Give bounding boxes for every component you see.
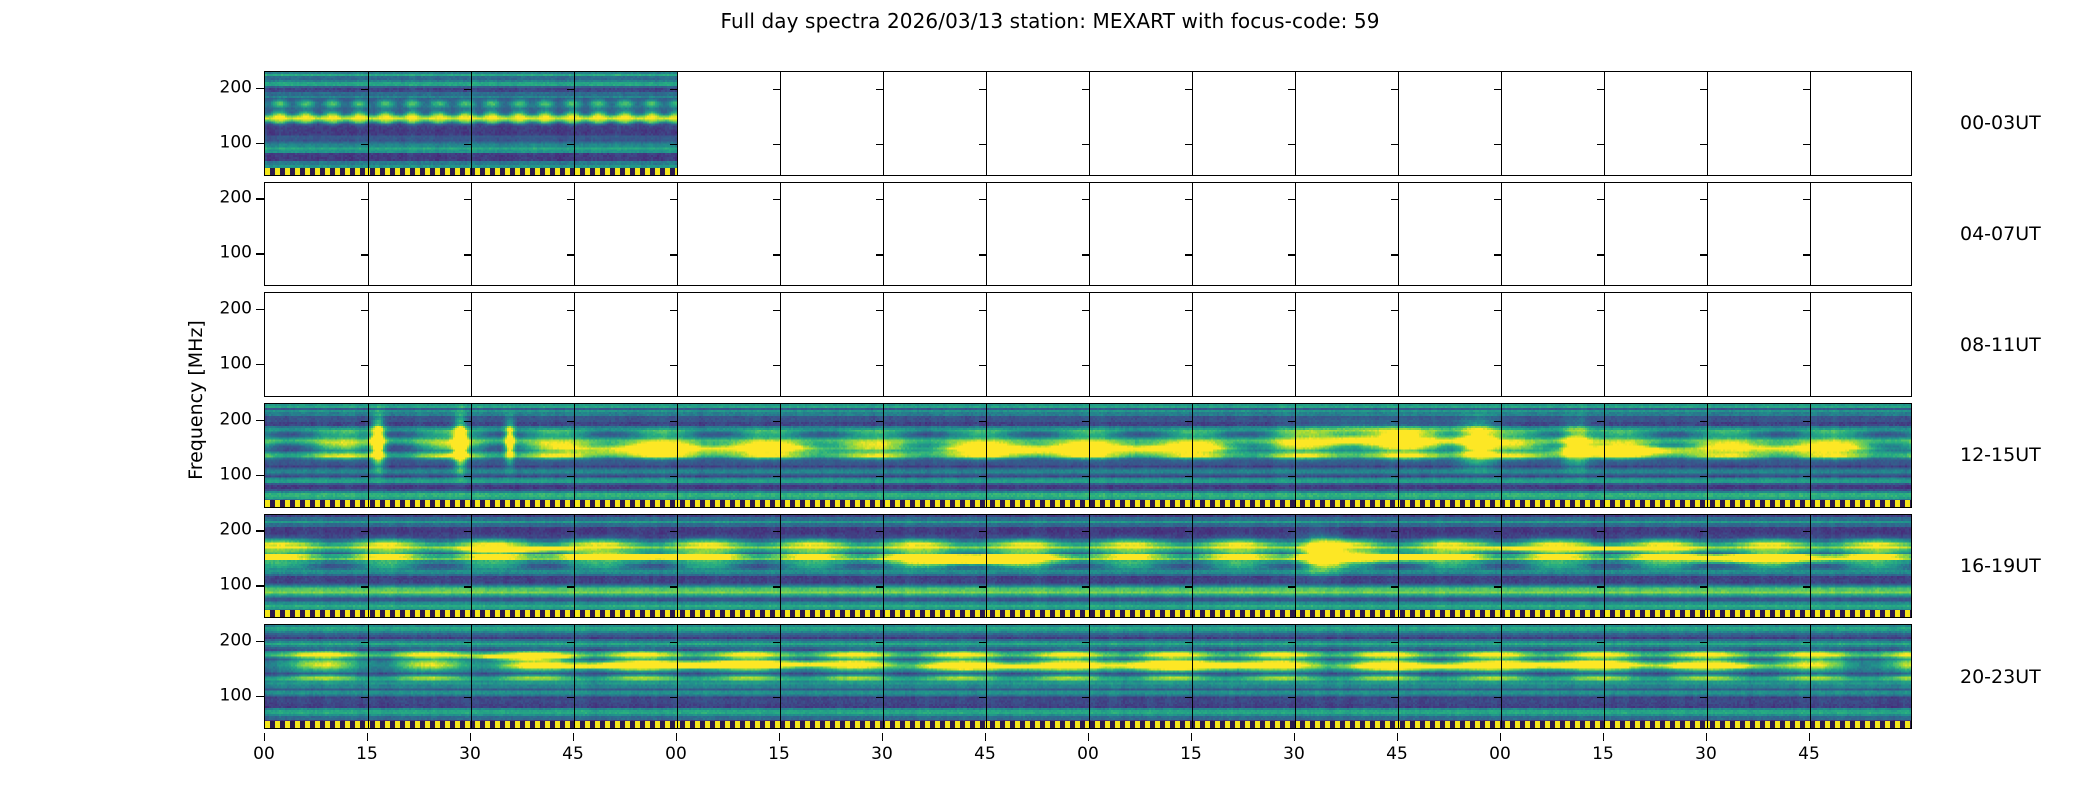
y-tick-mark xyxy=(876,89,883,90)
y-tick-mark xyxy=(1288,697,1295,698)
y-tick-mark xyxy=(670,365,677,366)
panel-divider xyxy=(883,183,884,286)
panel-divider xyxy=(471,625,472,728)
x-axis-tick-label: 45 xyxy=(974,744,996,764)
panel-divider xyxy=(780,515,781,618)
y-tick-mark xyxy=(1494,586,1501,587)
panel-divider xyxy=(1295,183,1296,286)
y-tick-mark xyxy=(876,365,883,366)
y-tick-mark xyxy=(464,642,471,643)
panel-divider xyxy=(1501,404,1502,507)
y-tick-mark xyxy=(1391,476,1398,477)
panel-divider xyxy=(1192,293,1193,396)
y-tick-mark xyxy=(1597,199,1604,200)
y-axis-tick xyxy=(256,253,264,254)
panel-divider xyxy=(986,72,987,175)
y-tick-mark xyxy=(1700,89,1707,90)
x-axis-tick-label: 00 xyxy=(1077,744,1099,764)
y-tick-mark xyxy=(1082,586,1089,587)
y-tick-mark xyxy=(1803,365,1810,366)
y-axis-tick xyxy=(256,696,264,697)
panel-divider xyxy=(883,293,884,396)
x-axis-tick xyxy=(985,733,986,741)
panel-divider xyxy=(986,293,987,396)
y-tick-mark xyxy=(464,531,471,532)
y-tick-mark xyxy=(1391,199,1398,200)
panel-divider xyxy=(471,404,472,507)
y-tick-mark xyxy=(1494,642,1501,643)
y-tick-mark xyxy=(1185,365,1192,366)
y-tick-mark xyxy=(567,697,574,698)
y-tick-mark xyxy=(979,365,986,366)
panel-divider xyxy=(1192,625,1193,728)
y-tick-mark xyxy=(1494,310,1501,311)
y-tick-mark xyxy=(1494,89,1501,90)
row-label-08-11ut: 08-11UT xyxy=(1960,334,2041,356)
y-tick-mark xyxy=(1185,310,1192,311)
y-tick-mark xyxy=(773,531,780,532)
y-tick-mark xyxy=(670,697,677,698)
y-axis-tick xyxy=(256,198,264,199)
y-tick-mark xyxy=(773,586,780,587)
panel-divider xyxy=(574,625,575,728)
y-tick-mark xyxy=(1494,531,1501,532)
panel-divider xyxy=(1810,515,1811,618)
y-tick-mark xyxy=(1700,586,1707,587)
y-axis-tick-label: 200 xyxy=(220,298,252,318)
panel-divider xyxy=(368,72,369,175)
spectrogram-row-20-23ut: 200100 xyxy=(264,624,1912,729)
y-tick-mark xyxy=(1082,531,1089,532)
panel-divider xyxy=(1604,183,1605,286)
panel-divider xyxy=(677,625,678,728)
y-tick-mark xyxy=(1082,199,1089,200)
panel-divider xyxy=(471,293,472,396)
y-tick-mark xyxy=(773,199,780,200)
y-tick-mark xyxy=(1494,144,1501,145)
y-tick-mark xyxy=(1288,89,1295,90)
panel-divider xyxy=(1295,404,1296,507)
y-tick-mark xyxy=(1803,421,1810,422)
y-tick-mark xyxy=(773,642,780,643)
y-tick-mark xyxy=(464,586,471,587)
x-axis-tick xyxy=(1088,733,1089,741)
y-axis-tick xyxy=(256,585,264,586)
y-tick-mark xyxy=(1391,254,1398,255)
spectrogram-row-16-19ut: 200100 xyxy=(264,514,1912,619)
y-tick-mark xyxy=(1185,642,1192,643)
panel-divider xyxy=(1810,183,1811,286)
panel-divider xyxy=(986,183,987,286)
y-tick-mark xyxy=(1597,254,1604,255)
y-axis-tick xyxy=(256,641,264,642)
panel-divider xyxy=(780,404,781,507)
y-tick-mark xyxy=(773,476,780,477)
panel-divider xyxy=(1707,293,1708,396)
y-tick-mark xyxy=(361,144,368,145)
x-axis-tick-label: 30 xyxy=(1695,744,1717,764)
y-tick-mark xyxy=(979,421,986,422)
plot-area xyxy=(264,514,1912,619)
y-tick-mark xyxy=(1185,144,1192,145)
plot-area xyxy=(264,71,1912,176)
y-tick-mark xyxy=(670,642,677,643)
y-tick-mark xyxy=(876,254,883,255)
y-tick-mark xyxy=(1288,421,1295,422)
x-axis-tick xyxy=(779,733,780,741)
y-tick-mark xyxy=(876,642,883,643)
y-tick-mark xyxy=(567,89,574,90)
y-tick-mark xyxy=(979,642,986,643)
panel-divider xyxy=(574,183,575,286)
y-tick-mark xyxy=(1597,144,1604,145)
y-axis-tick-label: 100 xyxy=(220,132,252,152)
y-tick-mark xyxy=(979,476,986,477)
y-tick-mark xyxy=(1185,476,1192,477)
y-tick-mark xyxy=(670,310,677,311)
y-axis-tick xyxy=(256,143,264,144)
y-tick-mark xyxy=(1803,531,1810,532)
y-tick-mark xyxy=(1803,642,1810,643)
page-title: Full day spectra 2026/03/13 station: MEX… xyxy=(0,9,2100,33)
spectrogram-row-00-03ut: 200100 xyxy=(264,71,1912,176)
panel-divider xyxy=(1810,625,1811,728)
x-axis-tick-label: 00 xyxy=(253,744,275,764)
y-tick-mark xyxy=(464,310,471,311)
y-tick-mark xyxy=(567,310,574,311)
y-tick-mark xyxy=(1803,697,1810,698)
y-tick-mark xyxy=(1391,642,1398,643)
panel-divider xyxy=(1604,515,1605,618)
x-axis-tick xyxy=(676,733,677,741)
y-axis-tick xyxy=(256,420,264,421)
panel-divider xyxy=(1192,72,1193,175)
y-tick-mark xyxy=(979,254,986,255)
y-tick-mark xyxy=(1391,89,1398,90)
y-tick-mark xyxy=(1803,310,1810,311)
y-tick-mark xyxy=(1185,531,1192,532)
y-tick-mark xyxy=(670,421,677,422)
panel-divider xyxy=(1810,404,1811,507)
x-axis-tick-label: 30 xyxy=(1283,744,1305,764)
panel-divider xyxy=(1398,515,1399,618)
y-tick-mark xyxy=(773,144,780,145)
y-tick-mark xyxy=(361,199,368,200)
y-tick-mark xyxy=(1082,365,1089,366)
y-tick-mark xyxy=(1700,144,1707,145)
y-tick-mark xyxy=(670,586,677,587)
y-tick-mark xyxy=(361,89,368,90)
x-axis-tick-label: 00 xyxy=(1489,744,1511,764)
y-axis-tick-label: 200 xyxy=(220,409,252,429)
y-tick-mark xyxy=(1597,586,1604,587)
panel-divider xyxy=(780,183,781,286)
y-tick-mark xyxy=(1803,144,1810,145)
x-axis-tick xyxy=(1294,733,1295,741)
spectrogram-row-04-07ut: 200100 xyxy=(264,182,1912,287)
panel-divider xyxy=(1810,72,1811,175)
spectrogram-row-08-11ut: 200100 xyxy=(264,292,1912,397)
y-tick-mark xyxy=(876,144,883,145)
y-tick-mark xyxy=(464,476,471,477)
y-axis-tick-label: 100 xyxy=(220,464,252,484)
y-tick-mark xyxy=(1185,254,1192,255)
x-axis-tick-label: 15 xyxy=(356,744,378,764)
y-tick-mark xyxy=(361,531,368,532)
y-tick-mark xyxy=(1185,421,1192,422)
panel-divider xyxy=(1604,72,1605,175)
y-tick-mark xyxy=(361,254,368,255)
panel-divider xyxy=(471,72,472,175)
y-tick-mark xyxy=(1494,421,1501,422)
panel-divider xyxy=(677,293,678,396)
y-axis-tick xyxy=(256,364,264,365)
y-tick-mark xyxy=(1185,199,1192,200)
panel-divider xyxy=(1707,183,1708,286)
panel-divider xyxy=(368,515,369,618)
y-axis-tick-label: 100 xyxy=(220,575,252,595)
y-tick-mark xyxy=(979,144,986,145)
panel-divider xyxy=(1604,404,1605,507)
y-tick-mark xyxy=(1803,254,1810,255)
panel-divider xyxy=(780,72,781,175)
plot-area xyxy=(264,182,1912,287)
y-tick-mark xyxy=(876,697,883,698)
panel-divider xyxy=(574,515,575,618)
y-axis-tick-label: 200 xyxy=(220,630,252,650)
x-axis-tick xyxy=(470,733,471,741)
plot-area xyxy=(264,292,1912,397)
y-axis-tick xyxy=(256,530,264,531)
y-tick-mark xyxy=(1803,199,1810,200)
panel-divider xyxy=(986,515,987,618)
y-tick-mark xyxy=(876,310,883,311)
panel-divider xyxy=(883,404,884,507)
x-axis-tick xyxy=(1397,733,1398,741)
y-tick-mark xyxy=(1494,199,1501,200)
panel-divider xyxy=(677,515,678,618)
y-tick-mark xyxy=(567,476,574,477)
y-tick-mark xyxy=(1288,199,1295,200)
panel-divider xyxy=(1089,625,1090,728)
y-tick-mark xyxy=(361,310,368,311)
panel-divider xyxy=(1707,515,1708,618)
panel-divider xyxy=(986,625,987,728)
y-tick-mark xyxy=(361,365,368,366)
panel-divider xyxy=(986,404,987,507)
y-tick-mark xyxy=(1391,586,1398,587)
y-tick-mark xyxy=(670,144,677,145)
panel-divider xyxy=(368,293,369,396)
y-tick-mark xyxy=(1494,697,1501,698)
x-axis-tick xyxy=(1500,733,1501,741)
y-tick-mark xyxy=(1494,365,1501,366)
y-tick-mark xyxy=(1082,144,1089,145)
panel-divider xyxy=(1089,515,1090,618)
panel-divider xyxy=(574,404,575,507)
y-tick-mark xyxy=(773,310,780,311)
panel-divider xyxy=(1501,293,1502,396)
panel-divider xyxy=(1604,625,1605,728)
y-tick-mark xyxy=(670,476,677,477)
panel-divider xyxy=(1707,72,1708,175)
x-axis-tick-label: 15 xyxy=(1592,744,1614,764)
y-tick-mark xyxy=(1803,476,1810,477)
x-axis-tick-label: 45 xyxy=(562,744,584,764)
y-axis-tick xyxy=(256,475,264,476)
x-axis-tick-label: 15 xyxy=(1180,744,1202,764)
y-tick-mark xyxy=(1082,642,1089,643)
panel-divider xyxy=(883,72,884,175)
y-tick-mark xyxy=(1494,476,1501,477)
y-tick-mark xyxy=(1391,144,1398,145)
row-label-20-23ut: 20-23UT xyxy=(1960,666,2041,688)
y-tick-mark xyxy=(1597,476,1604,477)
plot-area xyxy=(264,403,1912,508)
y-axis-tick-label: 200 xyxy=(220,77,252,97)
y-tick-mark xyxy=(1082,697,1089,698)
panel-divider xyxy=(1295,625,1296,728)
panel-divider xyxy=(780,293,781,396)
y-tick-mark xyxy=(567,365,574,366)
panel-divider xyxy=(1192,183,1193,286)
row-label-00-03ut: 00-03UT xyxy=(1960,112,2041,134)
y-tick-mark xyxy=(1597,697,1604,698)
y-tick-mark xyxy=(773,89,780,90)
panel-divider xyxy=(1501,183,1502,286)
panel-divider xyxy=(1089,72,1090,175)
x-axis-tick-label: 30 xyxy=(871,744,893,764)
y-tick-mark xyxy=(1288,586,1295,587)
x-axis: 00153045001530450015304500153045 xyxy=(264,733,1912,773)
y-tick-mark xyxy=(1597,365,1604,366)
y-tick-mark xyxy=(979,310,986,311)
x-axis-tick xyxy=(264,733,265,741)
y-tick-mark xyxy=(1082,254,1089,255)
y-tick-mark xyxy=(1700,199,1707,200)
y-tick-mark xyxy=(567,144,574,145)
y-tick-mark xyxy=(1288,365,1295,366)
y-tick-mark xyxy=(464,697,471,698)
row-label-04-07ut: 04-07UT xyxy=(1960,223,2041,245)
x-axis-tick-label: 00 xyxy=(665,744,687,764)
y-tick-mark xyxy=(1700,531,1707,532)
y-tick-mark xyxy=(670,254,677,255)
y-tick-mark xyxy=(1288,642,1295,643)
x-axis-tick xyxy=(1809,733,1810,741)
row-label-12-15ut: 12-15UT xyxy=(1960,444,2041,466)
y-tick-mark xyxy=(464,365,471,366)
panel-divider xyxy=(471,515,472,618)
y-tick-mark xyxy=(1494,254,1501,255)
spectrogram-row-12-15ut: 200100 xyxy=(264,403,1912,508)
panel-divider xyxy=(1398,72,1399,175)
panel-divider xyxy=(780,625,781,728)
panel-divider xyxy=(677,404,678,507)
panel-divider xyxy=(368,404,369,507)
y-tick-mark xyxy=(1700,642,1707,643)
y-tick-mark xyxy=(1597,531,1604,532)
panel-divider xyxy=(1398,404,1399,507)
y-tick-mark xyxy=(1597,89,1604,90)
y-tick-mark xyxy=(361,642,368,643)
y-tick-mark xyxy=(1597,421,1604,422)
y-tick-mark xyxy=(464,254,471,255)
row-label-16-19ut: 16-19UT xyxy=(1960,555,2041,577)
y-tick-mark xyxy=(876,199,883,200)
y-tick-mark xyxy=(464,144,471,145)
y-tick-mark xyxy=(773,421,780,422)
panel-divider xyxy=(1501,515,1502,618)
panel-divider xyxy=(1295,293,1296,396)
y-tick-mark xyxy=(361,421,368,422)
panel-divider xyxy=(1398,625,1399,728)
y-tick-mark xyxy=(1700,310,1707,311)
y-tick-mark xyxy=(1700,697,1707,698)
y-tick-mark xyxy=(1391,310,1398,311)
y-tick-mark xyxy=(1700,421,1707,422)
y-tick-mark xyxy=(567,586,574,587)
y-tick-mark xyxy=(1391,421,1398,422)
y-tick-mark xyxy=(464,199,471,200)
y-tick-mark xyxy=(1391,697,1398,698)
y-tick-mark xyxy=(670,531,677,532)
y-tick-mark xyxy=(979,697,986,698)
y-tick-mark xyxy=(1082,89,1089,90)
y-tick-mark xyxy=(1700,365,1707,366)
panel-divider xyxy=(1398,183,1399,286)
y-tick-mark xyxy=(1185,697,1192,698)
y-axis-tick-label: 100 xyxy=(220,243,252,263)
y-tick-mark xyxy=(361,586,368,587)
y-tick-mark xyxy=(464,421,471,422)
y-tick-mark xyxy=(1700,476,1707,477)
panel-divider xyxy=(883,515,884,618)
y-tick-mark xyxy=(979,531,986,532)
panel-divider xyxy=(1295,72,1296,175)
y-tick-mark xyxy=(1391,531,1398,532)
y-tick-mark xyxy=(773,697,780,698)
y-tick-mark xyxy=(361,476,368,477)
y-tick-mark xyxy=(1185,586,1192,587)
x-axis-tick xyxy=(1706,733,1707,741)
y-tick-mark xyxy=(773,365,780,366)
y-tick-mark xyxy=(1700,254,1707,255)
y-tick-mark xyxy=(773,254,780,255)
y-tick-mark xyxy=(1185,89,1192,90)
y-tick-mark xyxy=(1082,310,1089,311)
y-tick-mark xyxy=(979,199,986,200)
y-tick-mark xyxy=(567,254,574,255)
x-axis-tick-label: 45 xyxy=(1386,744,1408,764)
x-axis-tick-label: 45 xyxy=(1798,744,1820,764)
x-axis-tick xyxy=(1603,733,1604,741)
y-tick-mark xyxy=(1288,254,1295,255)
y-tick-mark xyxy=(876,586,883,587)
panel-divider xyxy=(1089,293,1090,396)
panel-divider xyxy=(883,625,884,728)
panel-divider xyxy=(1501,72,1502,175)
x-axis-tick-label: 15 xyxy=(768,744,790,764)
y-tick-mark xyxy=(1391,365,1398,366)
spectrogram-figure: Full day spectra 2026/03/13 station: MEX… xyxy=(0,0,2100,800)
y-tick-mark xyxy=(876,421,883,422)
panel-divider xyxy=(1810,293,1811,396)
y-tick-mark xyxy=(567,199,574,200)
y-tick-mark xyxy=(1597,310,1604,311)
y-axis-tick xyxy=(256,88,264,89)
y-tick-mark xyxy=(670,89,677,90)
